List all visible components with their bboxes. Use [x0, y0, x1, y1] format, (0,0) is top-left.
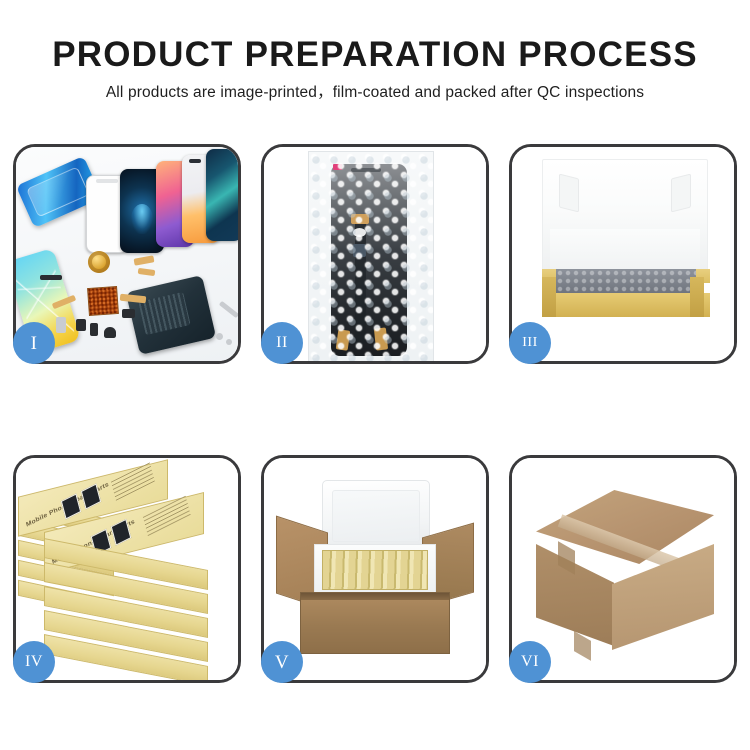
stacked-yellow-boxes-inside [322, 550, 428, 590]
connector-block [353, 244, 366, 257]
chip-part-c [90, 323, 98, 336]
step-panel-6: VI [509, 455, 737, 683]
process-steps-grid: I II [13, 144, 737, 683]
bubble-wrapped-contents [556, 269, 696, 295]
step-badge-4: IV [13, 641, 55, 683]
step-badge-1: I [13, 322, 55, 364]
shipping-carton-body [300, 592, 450, 654]
white-foam-padding [550, 229, 700, 273]
lid-tab-right [671, 174, 691, 213]
gold-contact-right [374, 327, 388, 350]
step-panel-5: V [261, 455, 489, 683]
step-badge-2: II [261, 322, 303, 364]
header: PRODUCT PREPARATION PROCESS All products… [0, 34, 750, 103]
screw-part-a [216, 333, 223, 340]
box-spec-lines-1 [111, 462, 155, 501]
foam-cooler-lid [322, 480, 430, 552]
lid-tab-left [559, 174, 579, 213]
teal-stripe-phone [206, 149, 238, 241]
vibration-motor-part [104, 327, 116, 338]
sim-tray-part [56, 317, 66, 333]
kraft-tray-front [542, 293, 710, 317]
camera-module [353, 228, 366, 237]
kraft-tray-left-corner [542, 277, 556, 317]
chip-part-b [76, 319, 86, 331]
step-panel-1: I [13, 144, 241, 364]
gold-coil-part [88, 251, 110, 273]
page-subtitle: All products are image-printed，film-coat… [0, 83, 750, 103]
step-panel-4: Mobile Phone Spare Parts Mobile Phone Sp… [13, 455, 241, 683]
bubble-wrap-bag [308, 151, 434, 361]
step-badge-6: VI [509, 641, 551, 683]
kraft-tray-right-corner [690, 277, 704, 317]
product-preparation-infographic: PRODUCT PREPARATION PROCESS All products… [0, 0, 750, 750]
step-panel-3: III [509, 144, 737, 364]
copper-mesh-part [87, 286, 119, 316]
pink-qc-label [333, 164, 342, 170]
screw-part-b [226, 339, 232, 345]
gold-connector-top [351, 214, 369, 224]
step-panel-2: II [261, 144, 489, 364]
chip-part-a [122, 309, 135, 318]
step-badge-3: III [509, 322, 551, 364]
earpiece-speaker-part [40, 275, 62, 280]
lcd-screen-assembly [331, 164, 407, 356]
page-title: PRODUCT PREPARATION PROCESS [0, 34, 750, 76]
step-badge-5: V [261, 641, 303, 683]
